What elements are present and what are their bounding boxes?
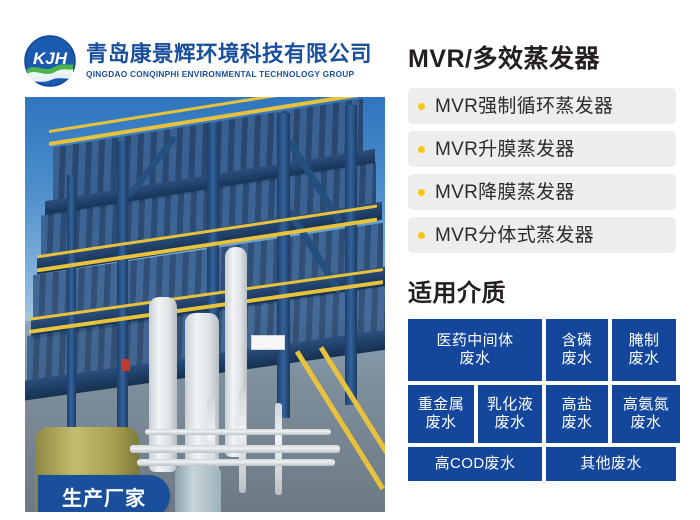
photo-steel-column xyxy=(345,105,357,405)
media-cell-pharma-intermediate[interactable]: 医药中间体 废水 xyxy=(408,319,542,381)
media-cell-pickling[interactable]: 腌制 废水 xyxy=(612,319,676,381)
feature-label: MVR升膜蒸发器 xyxy=(435,140,575,159)
media-cell-high-ammonia-nitrogen[interactable]: 高氨氮 废水 xyxy=(612,385,680,443)
feature-item-forced-circulation[interactable]: MVR强制循环蒸发器 xyxy=(408,88,676,124)
feature-item-falling-film[interactable]: MVR降膜蒸发器 xyxy=(408,174,676,210)
media-row: 重金属 废水 乳化液 废水 高盐 废水 高氨氮 废水 xyxy=(408,385,676,443)
photo-badge-group: 生产厂家 服务保障 xyxy=(25,475,195,512)
photo-illustration xyxy=(25,97,385,512)
bullet-icon xyxy=(418,232,425,239)
feature-item-rising-film[interactable]: MVR升膜蒸发器 xyxy=(408,131,676,167)
media-cell-label: 重金属 废水 xyxy=(418,396,464,431)
bullet-icon xyxy=(418,103,425,110)
badge-label: 生产厂家 xyxy=(62,482,146,511)
media-cell-heavy-metal[interactable]: 重金属 废水 xyxy=(408,385,474,443)
media-cell-label: 其他废水 xyxy=(580,455,642,473)
site-header: KJH 青岛康景辉环境科技有限公司 QINGDAO CONQINPHI ENVI… xyxy=(0,30,400,92)
product-title: MVR/多效蒸发器 xyxy=(408,44,676,74)
badge-manufacturer: 生产厂家 xyxy=(38,475,170,512)
media-cell-high-cod[interactable]: 高COD废水 xyxy=(408,447,542,481)
media-cell-label: 含磷 废水 xyxy=(562,332,593,367)
company-name-block: 青岛康景辉环境科技有限公司 QINGDAO CONQINPHI ENVIRONM… xyxy=(86,42,372,81)
feature-list: MVR强制循环蒸发器 MVR升膜蒸发器 MVR降膜蒸发器 MVR分体式蒸发器 xyxy=(408,88,676,253)
photo-pipe xyxy=(145,429,331,435)
media-cell-label: 医药中间体 废水 xyxy=(436,332,513,367)
photo-pipe xyxy=(137,459,335,466)
feature-label: MVR分体式蒸发器 xyxy=(435,226,594,245)
applicable-media-grid: 医药中间体 废水 含磷 废水 腌制 废水 重金属 废水 乳化液 废水 高盐 废水 xyxy=(408,319,676,481)
company-name-en: QINGDAO CONQINPHI ENVIRONMENTAL TECHNOLO… xyxy=(86,68,372,80)
media-cell-label: 腌制 废水 xyxy=(629,332,660,367)
photo-steel-column xyxy=(67,175,76,440)
product-info-panel: MVR/多效蒸发器 MVR强制循环蒸发器 MVR升膜蒸发器 MVR降膜蒸发器 M… xyxy=(408,44,676,481)
applicable-media-title: 适用介质 xyxy=(408,273,676,308)
feature-label: MVR强制循环蒸发器 xyxy=(435,97,613,116)
media-cell-label: 乳化液 废水 xyxy=(487,396,533,431)
product-photo: 生产厂家 服务保障 xyxy=(25,97,385,512)
media-cell-emulsion[interactable]: 乳化液 废水 xyxy=(478,385,542,443)
photo-equipment-sign xyxy=(251,335,285,350)
feature-label: MVR降膜蒸发器 xyxy=(435,183,575,202)
media-cell-label: 高COD废水 xyxy=(435,455,516,473)
media-cell-label: 高氨氮 废水 xyxy=(623,396,669,431)
photo-red-marker xyxy=(121,359,130,371)
photo-pipe xyxy=(130,445,340,453)
media-cell-high-salt[interactable]: 高盐 废水 xyxy=(546,385,608,443)
company-name-cn: 青岛康景辉环境科技有限公司 xyxy=(86,42,372,66)
bullet-icon xyxy=(418,146,425,153)
company-logo-icon: KJH xyxy=(24,35,76,87)
media-row: 高COD废水 其他废水 xyxy=(408,447,676,481)
media-cell-label: 高盐 废水 xyxy=(562,396,593,431)
media-cell-phosphorus[interactable]: 含磷 废水 xyxy=(546,319,608,381)
photo-steel-column xyxy=(277,113,290,418)
media-cell-other[interactable]: 其他废水 xyxy=(546,447,676,481)
svg-text:KJH: KJH xyxy=(33,49,68,68)
media-row: 医药中间体 废水 含磷 废水 腌制 废水 xyxy=(408,319,676,381)
bullet-icon xyxy=(418,189,425,196)
page-root: KJH 青岛康景辉环境科技有限公司 QINGDAO CONQINPHI ENVI… xyxy=(0,0,700,520)
photo-pipe xyxy=(239,389,246,493)
photo-steel-column xyxy=(117,141,128,431)
feature-item-split-type[interactable]: MVR分体式蒸发器 xyxy=(408,217,676,253)
